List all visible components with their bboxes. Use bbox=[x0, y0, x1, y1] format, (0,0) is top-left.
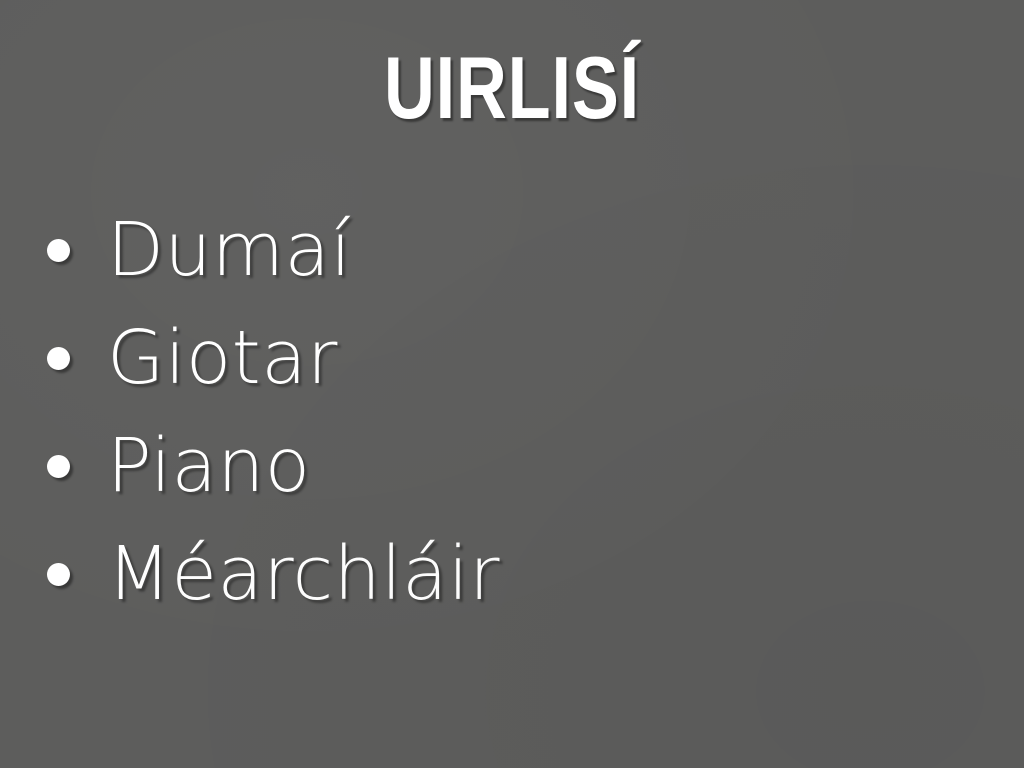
list-item: Méarchláir bbox=[40, 520, 980, 628]
list-item: Giotar bbox=[40, 304, 980, 412]
filled-circle-bullet-icon bbox=[47, 455, 70, 478]
list-item: Dumaí bbox=[40, 196, 980, 304]
bullet-list: Dumaí Giotar Piano Méarchláir bbox=[40, 196, 980, 628]
filled-circle-bullet-icon bbox=[47, 563, 70, 586]
list-item: Piano bbox=[40, 412, 980, 520]
filled-circle-bullet-icon bbox=[47, 347, 70, 370]
presentation-slide: UIRLISÍ Dumaí Giotar Piano Méarchláir bbox=[0, 0, 1024, 768]
list-item-label: Dumaí bbox=[107, 213, 351, 287]
list-item-label: Méarchláir bbox=[107, 537, 500, 611]
list-item-label: Giotar bbox=[107, 321, 338, 395]
page-title: UIRLISÍ bbox=[102, 44, 921, 132]
list-item-label: Piano bbox=[107, 429, 311, 503]
filled-circle-bullet-icon bbox=[47, 239, 70, 262]
